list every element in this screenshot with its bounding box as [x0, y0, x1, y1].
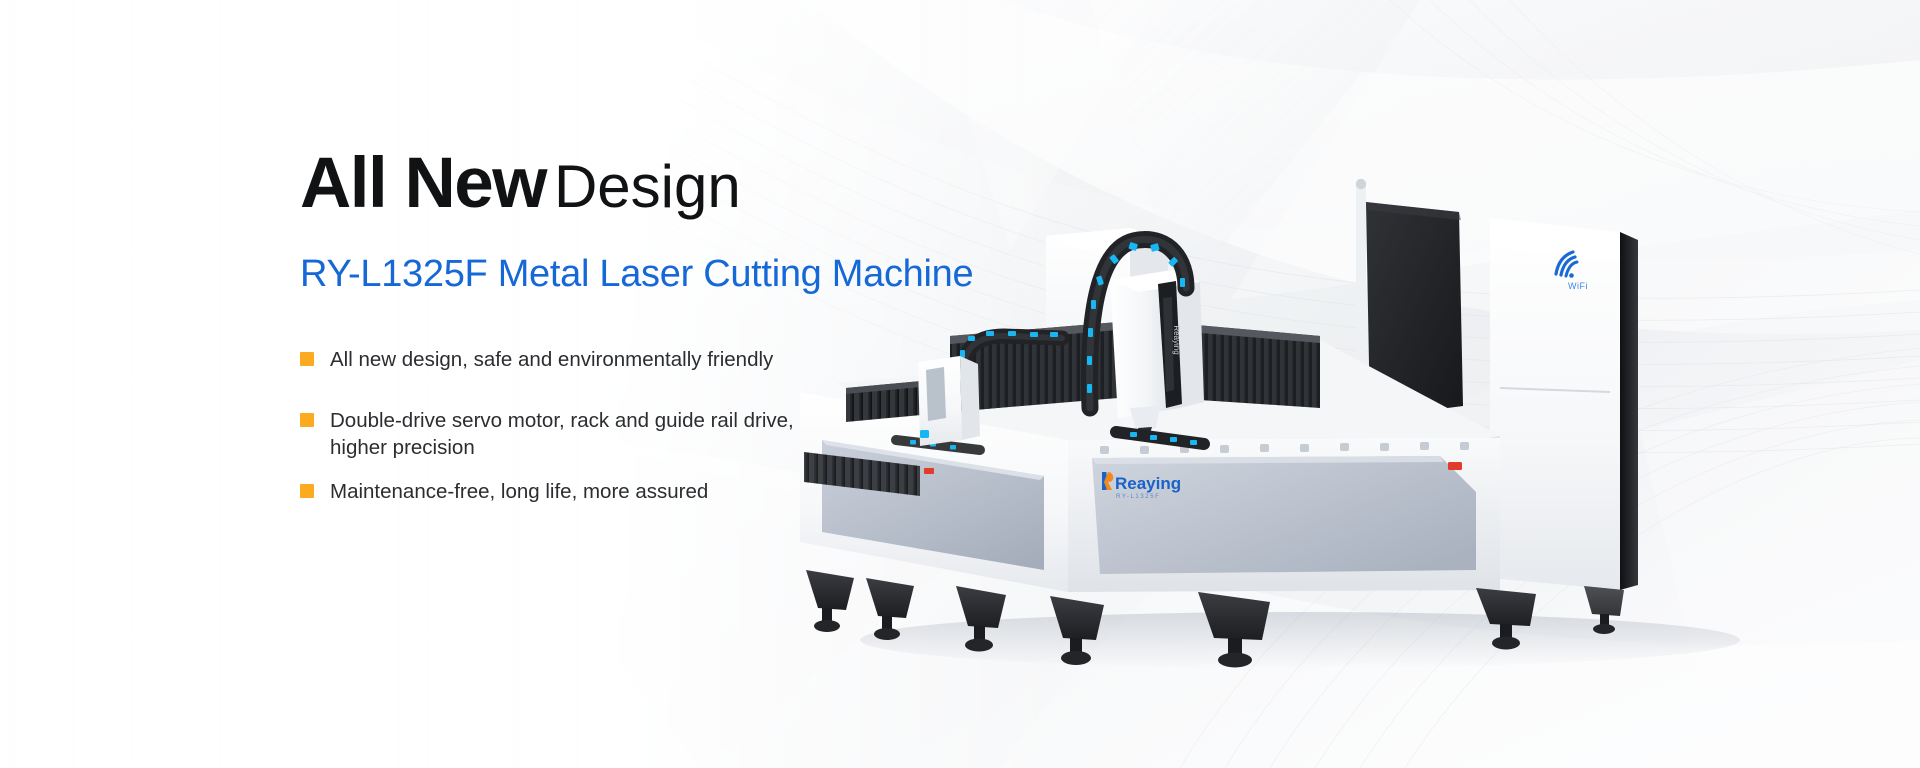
- wifi-label: WiFi: [1568, 281, 1588, 291]
- headline-light: Design: [554, 153, 741, 220]
- brand-logo-subtext: RY-L1325F: [1116, 494, 1160, 500]
- headline-strong: All New: [300, 144, 546, 223]
- feature-text: Maintenance-free, long life, more assure…: [330, 478, 708, 506]
- product-banner: All NewDesign RY-L1325F Metal Laser Cutt…: [0, 0, 1920, 768]
- control-cabinet: WiFi: [1490, 218, 1638, 590]
- bullet-square-icon: [300, 484, 314, 498]
- laser-cutting-machine-image: WiFi Reaying: [800, 140, 1920, 700]
- gantry-brand-label: Reaying: [1172, 325, 1181, 354]
- brand-logo-text: Reaying: [1115, 474, 1181, 493]
- bullet-square-icon: [300, 413, 314, 427]
- feature-text: All new design, safe and environmentally…: [330, 346, 773, 374]
- feature-text: Double-drive servo motor, rack and guide…: [330, 407, 800, 462]
- bullet-square-icon: [300, 352, 314, 366]
